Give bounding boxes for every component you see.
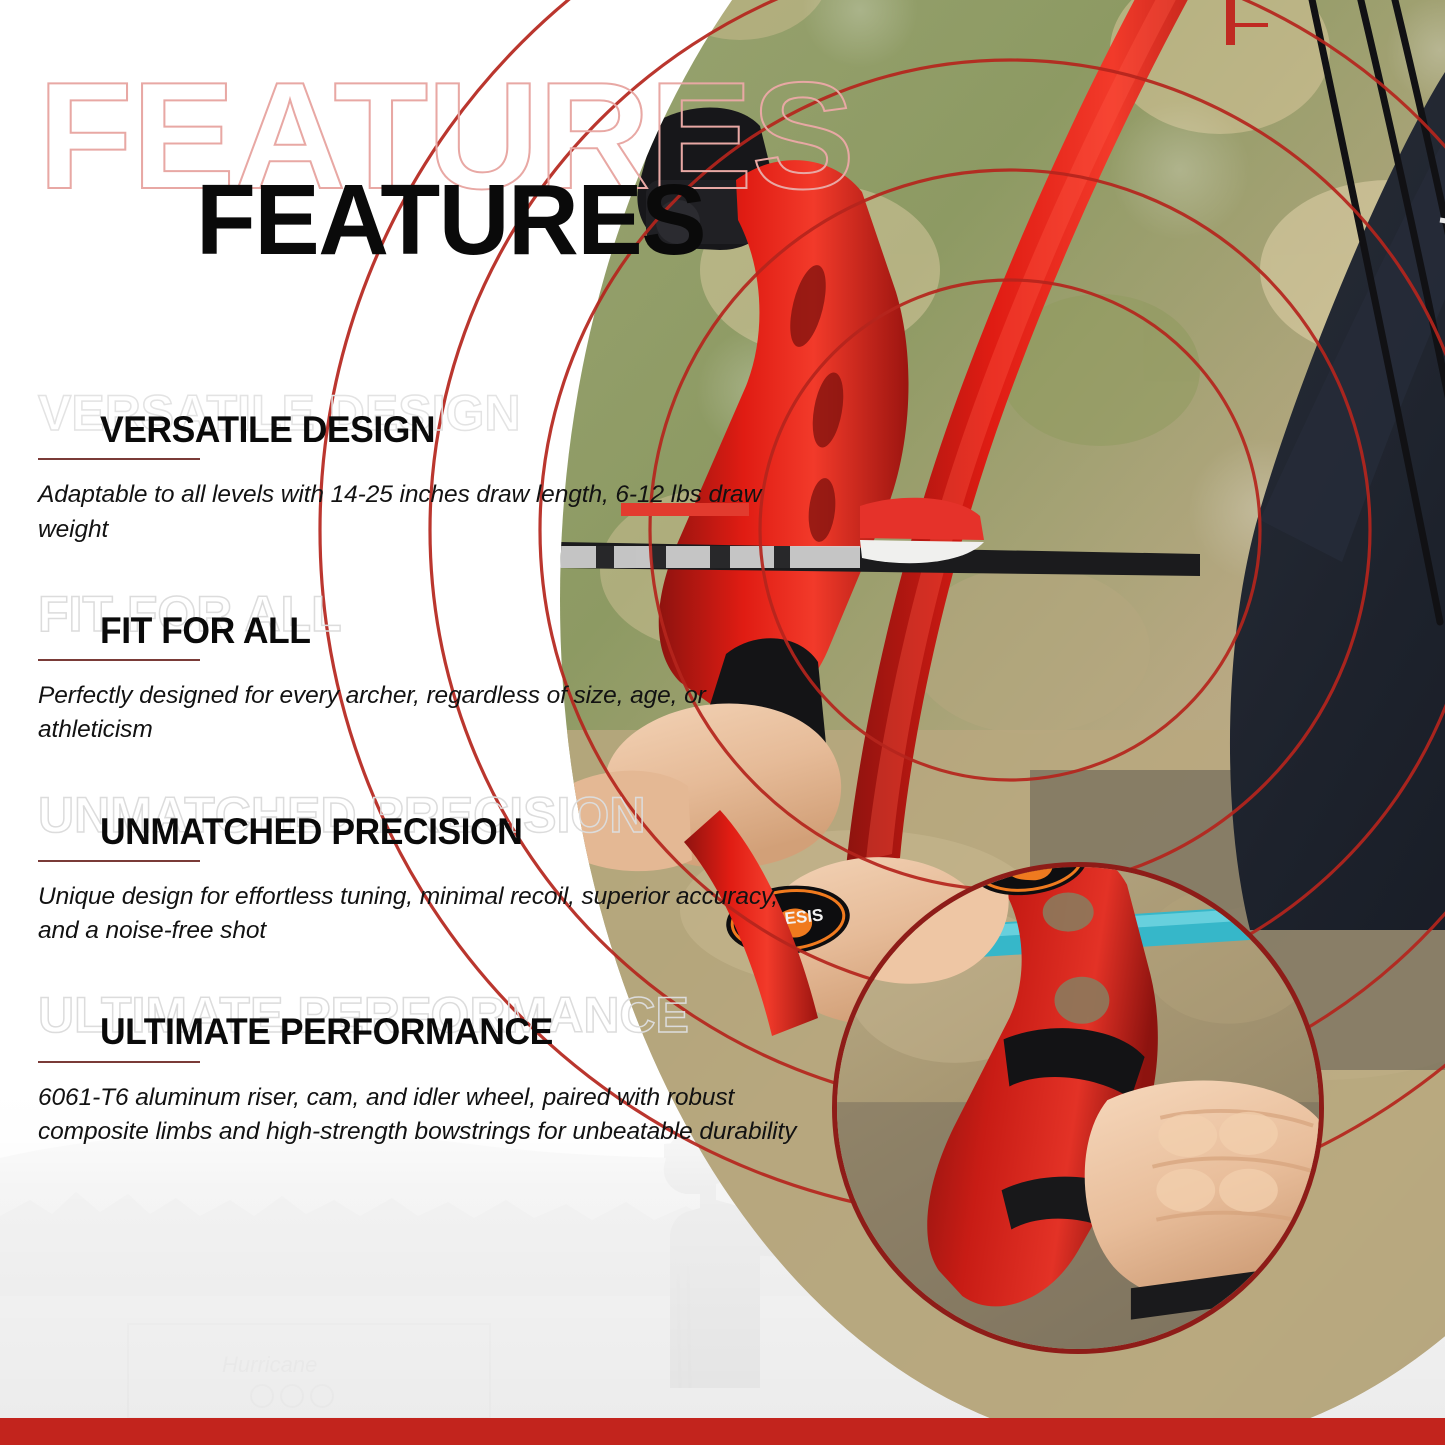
infographic-canvas: Hurricane	[0, 0, 1445, 1445]
feature-divider-rule	[38, 1061, 200, 1063]
feature-body-text: Adaptable to all levels with 14-25 inche…	[38, 478, 808, 547]
crosshair-tick-horizontal	[1226, 23, 1268, 27]
feature-heading: FIT FOR ALL	[100, 589, 897, 650]
feature-item-fit-for-all: FIT FOR ALL FIT FOR ALL Perfectly design…	[0, 589, 830, 748]
feature-item-versatile-design: VERSATILE DESIGN VERSATILE DESIGN Adapta…	[0, 388, 830, 547]
feature-list: VERSATILE DESIGN VERSATILE DESIGN Adapta…	[0, 388, 830, 1191]
feature-body-text: Perfectly designed for every archer, reg…	[38, 679, 808, 748]
feature-heading: VERSATILE DESIGN	[100, 388, 897, 449]
feature-divider-rule	[38, 458, 200, 460]
feature-body-text: 6061-T6 aluminum riser, cam, and idler w…	[38, 1081, 808, 1150]
feature-item-ultimate-performance: ULTIMATE PERFORMANCE ULTIMATE PERFORMANC…	[0, 990, 830, 1149]
feature-heading: ULTIMATE PERFORMANCE	[100, 990, 897, 1051]
feature-heading: UNMATCHED PRECISION	[100, 790, 897, 851]
inset-closeup-circle: GENESIS	[832, 862, 1324, 1354]
page-title-group: FEATURES FEATURES	[0, 60, 1100, 270]
feature-divider-rule	[38, 659, 200, 661]
bottom-red-bar	[0, 1418, 1445, 1445]
feature-item-unmatched-precision: UNMATCHED PRECISION UNMATCHED PRECISION …	[0, 790, 830, 949]
feature-body-text: Unique design for effortless tuning, min…	[38, 880, 808, 949]
page-title: FEATURES	[196, 170, 705, 270]
feature-divider-rule	[38, 860, 200, 862]
